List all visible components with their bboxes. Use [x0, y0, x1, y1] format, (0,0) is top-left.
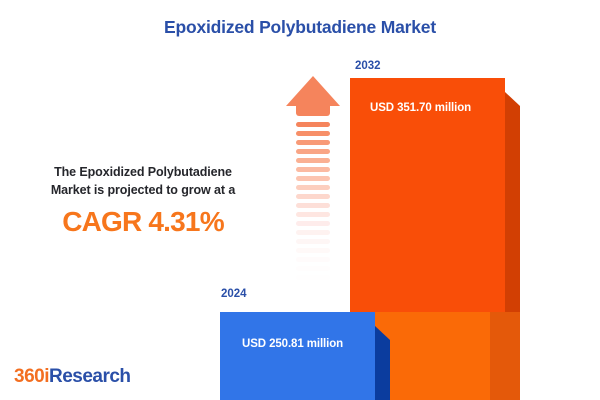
up-arrow-stripe: [296, 248, 330, 253]
up-arrow-stripe: [296, 266, 330, 271]
up-arrow-stripe: [296, 185, 330, 190]
cagr-value: CAGR 4.31%: [18, 206, 268, 238]
up-arrow-stripe: [296, 212, 330, 217]
page-title: Epoxidized Polybutadiene Market: [0, 17, 600, 38]
up-arrow-stripe: [296, 230, 330, 235]
bar-2032-side-face-lower: [490, 312, 520, 400]
up-arrow-neck: [296, 104, 330, 116]
cagr-lead-line-1: The Epoxidized Polybutadiene: [18, 163, 268, 181]
up-arrow-stripe: [296, 140, 330, 145]
up-arrow-stripe: [296, 122, 330, 127]
cagr-lead-line-2: Market is projected to grow at a: [18, 181, 268, 199]
brand-logo-research: Research: [49, 366, 131, 387]
bar-label-2024: 2024: [221, 288, 247, 300]
up-arrow-stripe: [296, 239, 330, 244]
up-arrow-stripe: [296, 149, 330, 154]
market-infographic: Epoxidized Polybutadiene Market 2032 USD…: [0, 0, 600, 400]
brand-logo-360i: 360i: [14, 366, 49, 387]
up-arrow-head: [286, 76, 340, 106]
up-arrow-stripe: [296, 167, 330, 172]
up-arrow-stripe: [296, 158, 330, 163]
up-arrow-stripe: [296, 131, 330, 136]
up-arrow-stripe: [296, 194, 330, 199]
up-arrow-stripe: [296, 275, 330, 280]
brand-logo: 360iResearch: [14, 366, 131, 388]
up-arrow-stripe: [296, 221, 330, 226]
bar-label-2032: 2032: [355, 60, 381, 72]
bar-2024-front-face: [220, 312, 375, 400]
bar-2024: USD 250.81 million: [220, 312, 390, 400]
up-arrow-stripe: [296, 176, 330, 181]
up-arrow-icon: [286, 76, 340, 292]
up-arrow-stripes: [296, 122, 330, 284]
bar-2024-value: USD 250.81 million: [242, 338, 343, 350]
up-arrow-stripe: [296, 257, 330, 262]
bar-2032-value: USD 351.70 million: [370, 102, 471, 114]
up-arrow-stripe: [296, 203, 330, 208]
cagr-callout: The Epoxidized Polybutadiene Market is p…: [18, 163, 268, 238]
